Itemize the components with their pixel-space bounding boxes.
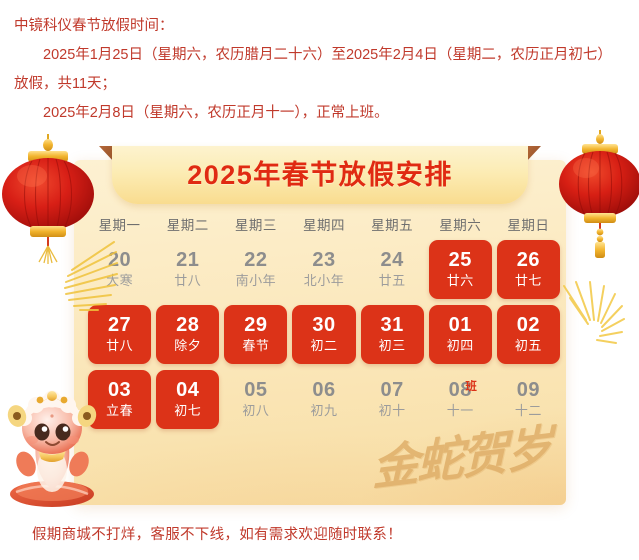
- calendar-day-number: 02: [517, 315, 540, 337]
- calendar-day-cell[interactable]: 25廿六: [429, 240, 492, 299]
- calendar-day-number: 21: [176, 250, 199, 272]
- calendar-day-cell[interactable]: 31初三: [361, 305, 424, 364]
- calendar-lunar-label: 廿五: [379, 273, 406, 289]
- calendar-day-cell[interactable]: 20大寒: [88, 240, 151, 299]
- calendar-lunar-label: 初九: [310, 403, 337, 419]
- calendar-week-row: 20大寒21廿八22南小年23北小年24廿五25廿六26廿七: [88, 240, 560, 305]
- calendar-week-row: 03立春04初七05初八06初九07初十08十一班09十二: [88, 370, 560, 435]
- calendar-lunar-label: 初二: [310, 338, 337, 354]
- calendar-lunar-label: 初十: [379, 403, 406, 419]
- calendar-day-number: 24: [381, 250, 404, 272]
- calendar-day-cell[interactable]: 23北小年: [292, 240, 355, 299]
- calendar-day-cell[interactable]: 29春节: [224, 305, 287, 364]
- weekday-thu: 星期四: [292, 210, 355, 238]
- calendar-lunar-label: 十一: [447, 403, 474, 419]
- calendar-day-number: 27: [108, 315, 131, 337]
- calendar-day-number: 20: [108, 250, 131, 272]
- calendar-day-number: 23: [312, 250, 335, 272]
- calendar-lunar-label: 初八: [242, 403, 269, 419]
- calendar-weeks: 20大寒21廿八22南小年23北小年24廿五25廿六26廿七27廿八28除夕29…: [88, 240, 560, 435]
- calendar-day-cell[interactable]: 24廿五: [361, 240, 424, 299]
- calendar-lunar-label: 初三: [379, 338, 406, 354]
- calendar-lunar-label: 十二: [515, 403, 542, 419]
- calendar-day-cell[interactable]: 27廿八: [88, 305, 151, 364]
- holiday-poster: 2025年春节放假安排 星期一 星期二 星期三 星期四 星期五 星期六 星期日 …: [0, 128, 639, 513]
- weekday-fri: 星期五: [361, 210, 424, 238]
- calendar-day-cell[interactable]: 30初二: [292, 305, 355, 364]
- calendar-lunar-label: 大寒: [106, 273, 133, 289]
- calendar-day-number: 31: [381, 315, 404, 337]
- calendar-day-cell[interactable]: 08十一班: [429, 370, 492, 429]
- workday-badge: 班: [465, 382, 477, 394]
- calendar-day-cell[interactable]: 26廿七: [497, 240, 560, 299]
- calendar-day-cell[interactable]: 02初五: [497, 305, 560, 364]
- calendar-day-cell[interactable]: 06初九: [292, 370, 355, 429]
- weekday-tue: 星期二: [156, 210, 219, 238]
- calendar-day-number: 29: [244, 315, 267, 337]
- weekday-sat: 星期六: [429, 210, 492, 238]
- holiday-calendar: 星期一 星期二 星期三 星期四 星期五 星期六 星期日 20大寒21廿八22南小…: [88, 210, 560, 435]
- calendar-day-cell[interactable]: 03立春: [88, 370, 151, 429]
- notice-line-2: 2025年2月8日（星期六，农历正月十一），正常上班。: [14, 99, 625, 128]
- calendar-day-number: 06: [312, 380, 335, 402]
- calendar-day-number: 05: [244, 380, 267, 402]
- calendar-day-number: 26: [517, 250, 540, 272]
- ribbon-body: 2025年春节放假安排: [112, 146, 528, 204]
- poster-title: 2025年春节放假安排: [187, 162, 453, 189]
- calendar-day-number: 25: [449, 250, 472, 272]
- weekday-sun: 星期日: [497, 210, 560, 238]
- footer-message: 假期商城不打烊，客服不下线，如有需求欢迎随时联系！: [0, 523, 639, 544]
- calendar-lunar-label: 初五: [515, 338, 542, 354]
- calendar-day-number: 03: [108, 380, 131, 402]
- calendar-day-number: 01: [449, 315, 472, 337]
- calendar-lunar-label: 北小年: [304, 273, 345, 289]
- calendar-day-cell[interactable]: 22南小年: [224, 240, 287, 299]
- calendar-day-number: 28: [176, 315, 199, 337]
- calendar-day-number: 07: [381, 380, 404, 402]
- calendar-lunar-label: 廿六: [447, 273, 474, 289]
- calendar-day-cell[interactable]: 05初八: [224, 370, 287, 429]
- calendar-lunar-label: 南小年: [236, 273, 277, 289]
- calendar-day-cell[interactable]: 07初十: [361, 370, 424, 429]
- calendar-day-cell[interactable]: 28除夕: [156, 305, 219, 364]
- calendar-day-number: 30: [312, 315, 335, 337]
- notice-line-1: 2025年1月25日（星期六，农历腊月二十六）至2025年2月4日（星期二，农历…: [14, 41, 625, 99]
- calendar-weekday-header: 星期一 星期二 星期三 星期四 星期五 星期六 星期日: [88, 210, 560, 238]
- calendar-lunar-label: 初七: [174, 403, 201, 419]
- calendar-lunar-label: 廿八: [106, 338, 133, 354]
- poster-title-ribbon: 2025年春节放假安排: [112, 146, 528, 204]
- calendar-day-number: 22: [244, 250, 267, 272]
- holiday-notice-text: 中镜科仪春节放假时间： 2025年1月25日（星期六，农历腊月二十六）至2025…: [0, 0, 639, 128]
- calendar-lunar-label: 立春: [106, 403, 133, 419]
- calendar-day-number: 09: [517, 380, 540, 402]
- calendar-lunar-label: 廿七: [515, 273, 542, 289]
- notice-heading: 中镜科仪春节放假时间：: [14, 12, 625, 41]
- calendar-lunar-label: 初四: [447, 338, 474, 354]
- calendar-day-number: 04: [176, 380, 199, 402]
- calendar-lunar-label: 除夕: [174, 338, 201, 354]
- calendar-day-cell[interactable]: 09十二: [497, 370, 560, 429]
- calendar-day-cell[interactable]: 01初四: [429, 305, 492, 364]
- calendar-day-cell[interactable]: 04初七: [156, 370, 219, 429]
- weekday-wed: 星期三: [224, 210, 287, 238]
- lantern-icon: [556, 128, 639, 258]
- calendar-lunar-label: 春节: [242, 338, 269, 354]
- calendar-day-cell[interactable]: 21廿八: [156, 240, 219, 299]
- weekday-mon: 星期一: [88, 210, 151, 238]
- calendar-lunar-label: 廿八: [174, 273, 201, 289]
- calendar-week-row: 27廿八28除夕29春节30初二31初三01初四02初五: [88, 305, 560, 370]
